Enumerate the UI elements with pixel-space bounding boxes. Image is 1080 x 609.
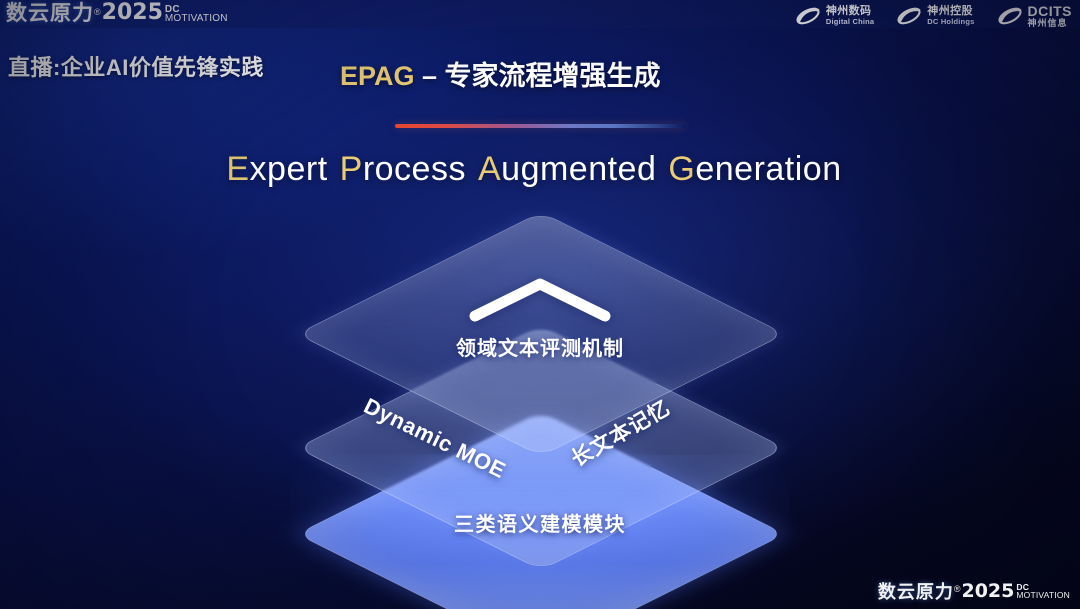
- watermark-name-cn: 数云原力: [878, 583, 954, 601]
- watermark-year: 2025: [961, 582, 1014, 601]
- brand-logo-header: 数云原力 ® 2025 DC MOTIVATION: [6, 2, 228, 24]
- watermark-motivation-text: MOTIVATION: [1016, 592, 1070, 600]
- gradient-divider: [395, 124, 685, 128]
- subtitle-cap-e: E: [226, 150, 249, 188]
- subtitle-word-generation: Generation: [668, 150, 841, 188]
- subtitle-word-augmented: Augmented: [478, 150, 656, 188]
- subtitle-word-expert: Expert: [226, 150, 327, 188]
- brand-registered-mark: ®: [94, 8, 101, 17]
- partner-main-name: DCITS: [1028, 4, 1073, 19]
- partner-label-dc-holdings: 神州控股 DC Holdings: [927, 6, 974, 25]
- partner-logo-dc-holdings: 神州控股 DC Holdings: [896, 6, 974, 26]
- brand-year: 2025: [102, 2, 163, 24]
- brand-logo-watermark: 数云原力 ® 2025 DC MOTIVATION: [878, 582, 1070, 601]
- epag-acronym: EPAG: [340, 61, 415, 91]
- epag-separator: –: [415, 61, 445, 91]
- subtitle-cap-p: P: [340, 150, 363, 188]
- brand-name-cn: 数云原力: [6, 3, 94, 24]
- partner-logo-dcits: DCITS 神州信息: [997, 4, 1073, 28]
- subtitle-cap-a: A: [478, 150, 501, 188]
- swoosh-logo-icon: [896, 6, 922, 26]
- partner-en-name: Digital China: [826, 18, 874, 26]
- subtitle-rest-process: rocess: [363, 150, 466, 188]
- subtitle-rest-generation: eneration: [695, 150, 841, 188]
- partner-label-digital-china: 神州数码 Digital China: [826, 6, 874, 25]
- partner-logo-digital-china: 神州数码 Digital China: [795, 6, 874, 26]
- subtitle-rest-augmented: ugmented: [501, 150, 656, 188]
- live-stream-title: 直播:企业AI价值先锋实践: [8, 50, 264, 82]
- subtitle-word-process: Process: [340, 150, 466, 188]
- partner-en-name: DC Holdings: [927, 18, 974, 26]
- swoosh-logo-icon: [997, 6, 1023, 26]
- watermark-registered-mark: ®: [954, 585, 961, 594]
- brand-motivation-text: MOTIVATION: [165, 14, 228, 23]
- stack-label-top: 领域文本评测机制: [0, 332, 1080, 361]
- slide-canvas: 数云原力 ® 2025 DC MOTIVATION 直播:企业AI价值先锋实践 …: [0, 0, 1080, 609]
- partner-label-dcits: DCITS 神州信息: [1028, 4, 1073, 28]
- english-subtitle: ExpertProcessAugmentedGeneration: [0, 150, 1080, 189]
- subtitle-cap-g: G: [668, 150, 695, 188]
- stack-label-bottom: 三类语义建模模块: [0, 508, 1080, 537]
- watermark-dc-motivation: DC MOTIVATION: [1016, 584, 1070, 600]
- epag-chinese-title: 专家流程增强生成: [445, 61, 661, 91]
- partner-logo-group: 神州数码 Digital China 神州控股 DC Holdings: [795, 4, 1072, 28]
- epag-headline: EPAG – 专家流程增强生成: [340, 54, 661, 93]
- brand-dc-motivation: DC MOTIVATION: [165, 5, 228, 23]
- chevron-up-icon: [465, 272, 615, 326]
- swoosh-logo-icon: [795, 6, 821, 26]
- partner-sub-name: 神州信息: [1028, 19, 1073, 28]
- subtitle-rest-expert: xpert: [250, 150, 328, 188]
